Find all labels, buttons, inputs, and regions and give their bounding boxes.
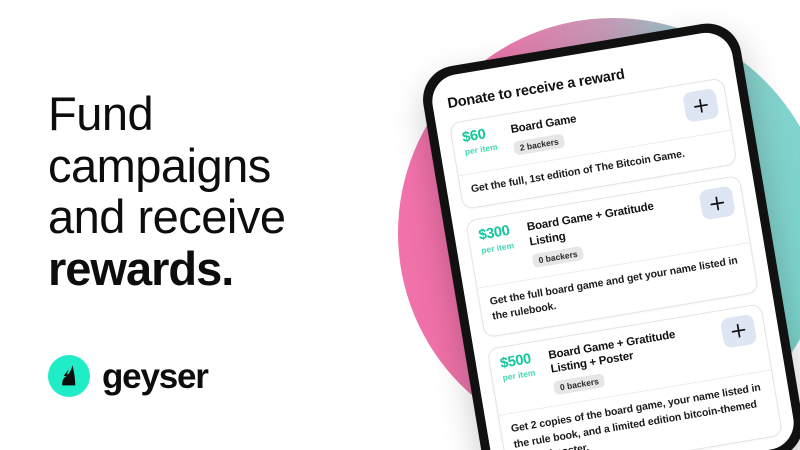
add-reward-button[interactable]	[720, 313, 757, 348]
plus-icon	[692, 97, 709, 114]
headline-line-4: rewards.	[48, 243, 418, 295]
reward-title-group: Board Game + Gratitude Listing + Poster …	[547, 322, 716, 396]
promo-banner: Fund campaigns and receive rewards. geys…	[0, 0, 800, 450]
headline-line-1: Fund	[48, 88, 418, 140]
brand-name: geyser	[102, 359, 208, 394]
add-reward-button[interactable]	[682, 88, 719, 123]
phone-screen: Donate to receive a reward $60 per item …	[428, 29, 797, 450]
reward-price-group: $60 per item	[461, 125, 505, 158]
phone-frame: Donate to receive a reward $60 per item …	[418, 18, 800, 450]
reward-title: Board Game + Gratitude Listing + Poster	[547, 322, 713, 377]
brand-logo[interactable]: geyser	[48, 355, 208, 397]
page-title: Fund campaigns and receive rewards.	[48, 88, 418, 295]
plus-icon	[709, 195, 726, 212]
reward-title: Board Game + Gratitude Listing	[526, 194, 692, 249]
reward-title: Board Game	[510, 96, 673, 137]
add-reward-button[interactable]	[699, 186, 736, 221]
hero-copy: Fund campaigns and receive rewards.	[48, 88, 418, 295]
phone-mockup: Donate to receive a reward $60 per item …	[418, 18, 800, 450]
status-badge: 0 backers	[532, 246, 585, 268]
reward-title-group: Board Game 2 backers	[510, 96, 676, 156]
reward-title-group: Board Game + Gratitude Listing 0 backers	[526, 194, 695, 268]
reward-price-group: $300 per item	[478, 223, 522, 256]
status-badge: 0 backers	[553, 374, 606, 396]
geyser-bolt-icon	[48, 355, 90, 397]
plus-icon	[730, 322, 747, 339]
headline-line-3: and receive	[48, 191, 418, 243]
reward-price-group: $500 per item	[499, 350, 543, 383]
headline-line-2: campaigns	[48, 140, 418, 192]
status-badge: 2 backers	[513, 134, 566, 156]
